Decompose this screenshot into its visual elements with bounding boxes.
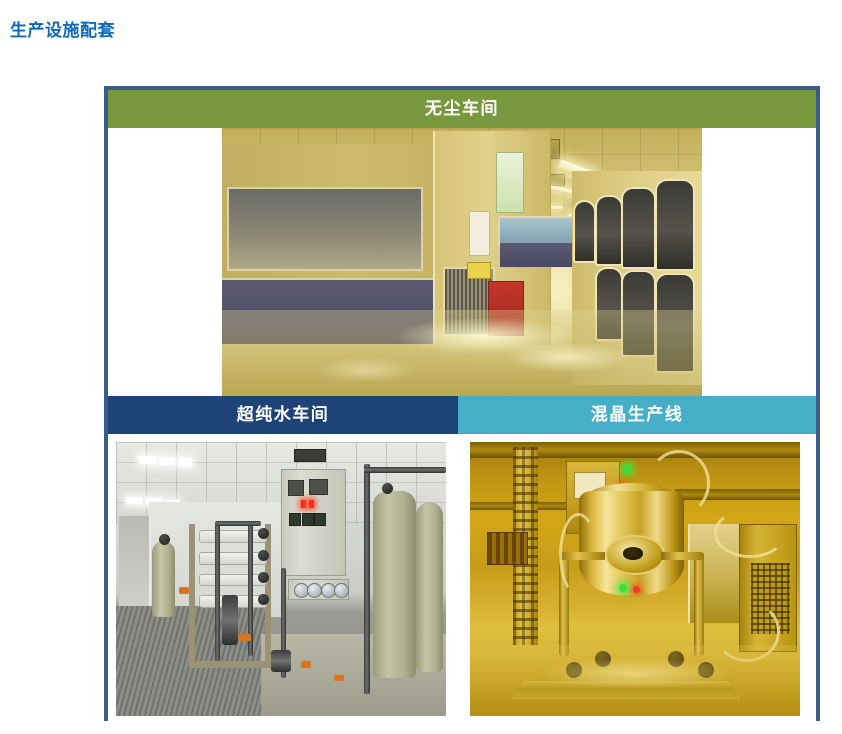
media-filter-tank [152, 541, 175, 618]
ro-membrane-vessel [199, 552, 267, 565]
membrane-end-cap [258, 594, 269, 605]
page-root: 生产设施配套 无尘车间 [0, 0, 842, 734]
fume-hood-sash [227, 187, 423, 271]
media-filter-tank [373, 491, 416, 677]
process-pipe [364, 467, 447, 473]
storage-cabinet [655, 179, 695, 271]
tank-valve-head [159, 534, 170, 545]
pressure-gauge-icon [334, 583, 349, 598]
process-pipe [215, 524, 220, 661]
doorway [119, 516, 151, 615]
flexible-hose [714, 508, 786, 558]
panel-switch[interactable] [314, 513, 326, 526]
reagent-bottle-rack [487, 532, 529, 564]
floor-reflection [470, 645, 800, 716]
sight-glass-icon [623, 547, 643, 559]
section-header-cleanroom: 无尘车间 [108, 90, 816, 128]
section-headers-row: 超纯水车间 混晶生产线 [108, 396, 816, 434]
media-filter-tank [416, 502, 442, 672]
ceiling-light-icon [179, 458, 192, 466]
storage-cabinet [595, 195, 623, 266]
valve-handle[interactable] [179, 587, 189, 594]
section-header-crystal: 混晶生产线 [458, 396, 816, 434]
tank-valve-head [382, 483, 393, 494]
ro-membrane-vessel [199, 574, 267, 587]
floor-reflection [222, 310, 702, 396]
flexible-hose [559, 513, 598, 596]
membrane-end-cap [258, 572, 269, 583]
bottom-photos-row [108, 434, 816, 725]
skid-frame [189, 524, 196, 666]
valve-handle[interactable] [334, 675, 344, 681]
workbench [500, 243, 582, 267]
skid-frame [189, 661, 275, 668]
process-pipe [215, 521, 261, 525]
ceiling-light-icon [126, 497, 143, 504]
panel-switch[interactable] [289, 513, 301, 526]
indicator-lamp-red [309, 500, 314, 508]
valve-handle[interactable] [301, 661, 311, 668]
wall-notice-sign [496, 152, 525, 213]
indicator-lamp-red [301, 500, 306, 508]
ceiling-light-icon [159, 457, 176, 465]
section-header-water: 超纯水车间 [108, 396, 458, 434]
cleanroom-media-row [108, 128, 816, 396]
pump-motor [271, 650, 291, 672]
panel-display [288, 480, 305, 496]
vessel-support-arm [661, 552, 704, 560]
vessel-support-leg [694, 552, 704, 656]
wall-notice-sign [469, 211, 490, 256]
panel-display [309, 479, 328, 495]
page-title: 生产设施配套 [10, 16, 115, 41]
valve-handle[interactable] [238, 634, 251, 641]
warning-sign-icon [467, 262, 491, 279]
panel-switch[interactable] [302, 513, 314, 526]
photo-cleanroom [222, 128, 702, 396]
photo-ultrapure-water [116, 442, 446, 716]
panel-readout [294, 449, 326, 462]
ceiling-light-icon [139, 456, 156, 464]
storage-cabinet [621, 187, 656, 269]
process-pipe [364, 464, 371, 694]
pump-motor [222, 595, 239, 644]
facility-panel: 无尘车间 [104, 86, 820, 721]
storage-cabinet [573, 200, 596, 263]
photo-crystal-line [470, 442, 800, 716]
ro-membrane-vessel [199, 530, 267, 543]
